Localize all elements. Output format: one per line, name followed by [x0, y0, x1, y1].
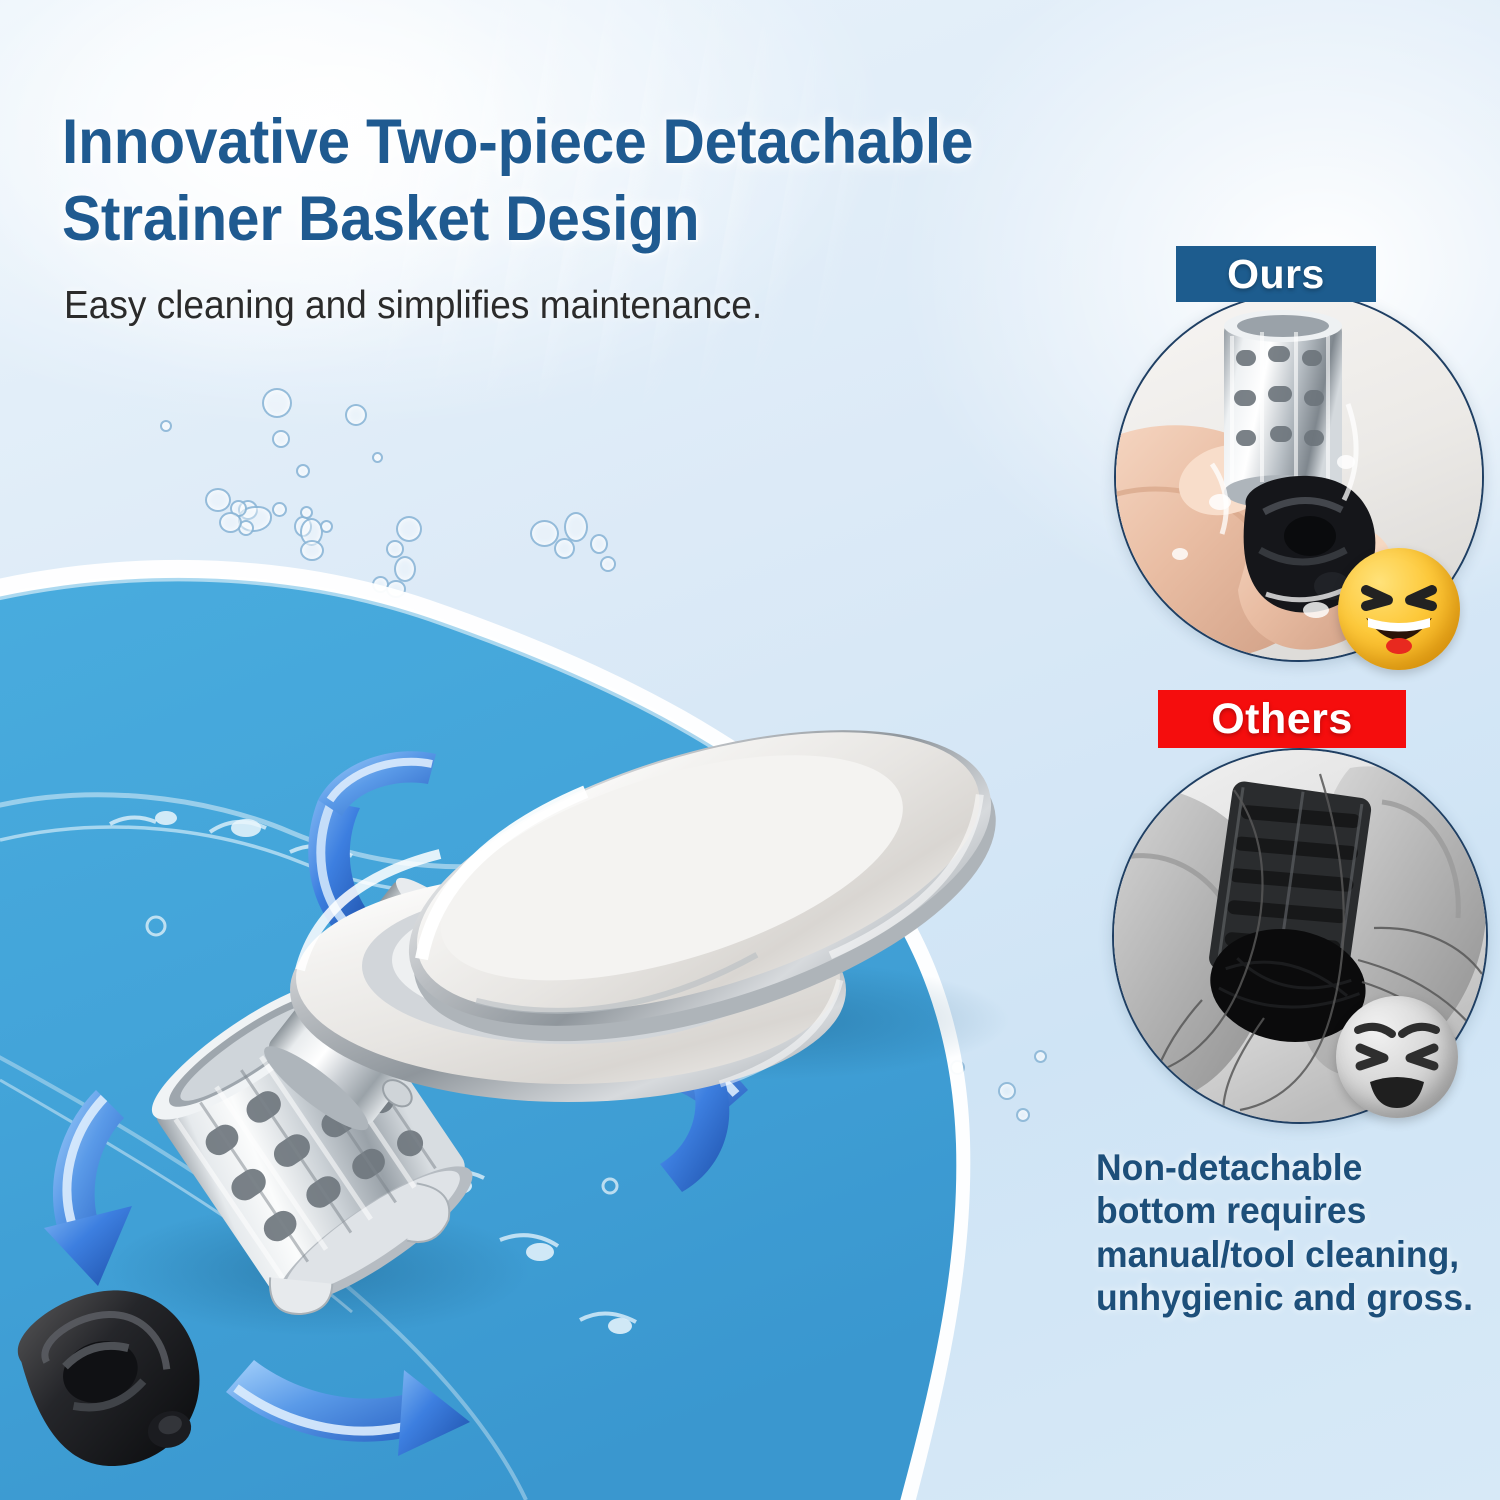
comparison-caption: Non-detachable bottom requires manual/to… [1096, 1146, 1478, 1319]
page-subtitle: Easy cleaning and simplifies maintenance… [64, 284, 919, 328]
product-exploded-illustration [0, 330, 1180, 1500]
product-infographic: Innovative Two-piece Detachable Strainer… [0, 0, 1500, 1500]
laughing-face-emoji [1338, 548, 1460, 670]
rotation-arrow-icon-4 [226, 1360, 470, 1456]
badge-others: Others [1158, 690, 1406, 748]
weary-face-emoji [1336, 996, 1458, 1118]
badge-ours: Ours [1176, 246, 1376, 302]
page-title: Innovative Two-piece Detachable Strainer… [62, 104, 1159, 258]
